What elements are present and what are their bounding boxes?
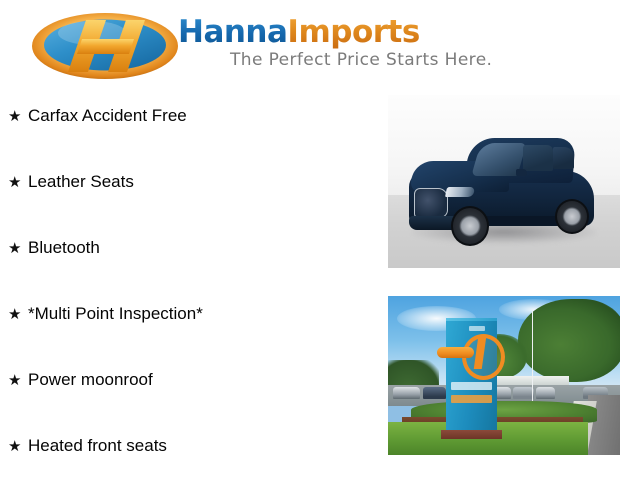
monument-sign-name-text [451, 382, 493, 390]
monument-sign-base [441, 430, 501, 440]
star-bullet-icon: ★ [8, 241, 28, 256]
list-item: ★ Power moonroof [8, 368, 153, 392]
star-bullet-icon: ★ [8, 373, 28, 388]
wordmark-hanna: Hanna [178, 14, 287, 50]
star-bullet-icon: ★ [8, 439, 28, 454]
list-item: ★ Heated front seats [8, 434, 167, 458]
list-item: ★ Leather Seats [8, 170, 134, 194]
vehicle-rocker-panel [481, 216, 560, 225]
wordmark: HannaImports [178, 14, 420, 50]
feature-label: Carfax Accident Free [28, 104, 187, 128]
dealership-photo[interactable] [388, 296, 620, 455]
vehicle-photo[interactable] [388, 95, 620, 268]
feature-label: Leather Seats [28, 170, 134, 194]
flagpole [532, 309, 534, 401]
monument-sign-address-number [469, 326, 485, 331]
vehicle-front-wheel [451, 206, 490, 246]
list-item: ★ Carfax Accident Free [8, 104, 187, 128]
vehicle-side-mirror [516, 169, 528, 176]
vehicle-grille [414, 188, 448, 218]
vehicle-headlight [445, 187, 475, 197]
parked-car [393, 387, 421, 400]
list-item: ★ Bluetooth [8, 236, 100, 260]
vehicle-rear-window [553, 147, 574, 169]
brand-logo-block[interactable]: HannaImports The Perfect Price Starts He… [30, 6, 530, 86]
parked-car [423, 387, 446, 400]
brand-tagline: The Perfect Price Starts Here. [230, 50, 492, 70]
header-banner: HannaImports The Perfect Price Starts He… [0, 0, 640, 92]
hanna-imports-oval-h-logo-icon [30, 11, 180, 81]
star-bullet-icon: ★ [8, 175, 28, 190]
brand-text: HannaImports The Perfect Price Starts He… [178, 14, 533, 84]
monument-sign-subtext [451, 395, 493, 403]
monument-sign-logo-bar-icon [437, 347, 474, 358]
vehicle-front-window [523, 145, 553, 171]
list-item: ★ *Multi Point Inspection* [8, 302, 203, 326]
star-bullet-icon: ★ [8, 109, 28, 124]
parked-car [536, 387, 555, 400]
vehicle-rear-wheel [555, 199, 589, 234]
feature-label: *Multi Point Inspection* [28, 302, 203, 326]
star-bullet-icon: ★ [8, 307, 28, 322]
feature-label: Bluetooth [28, 236, 100, 260]
feature-label: Power moonroof [28, 368, 153, 392]
feature-label: Heated front seats [28, 434, 167, 458]
vehicle-feature-list: ★ Carfax Accident Free ★ Leather Seats ★… [0, 96, 380, 480]
wordmark-imports: Imports [287, 14, 419, 50]
